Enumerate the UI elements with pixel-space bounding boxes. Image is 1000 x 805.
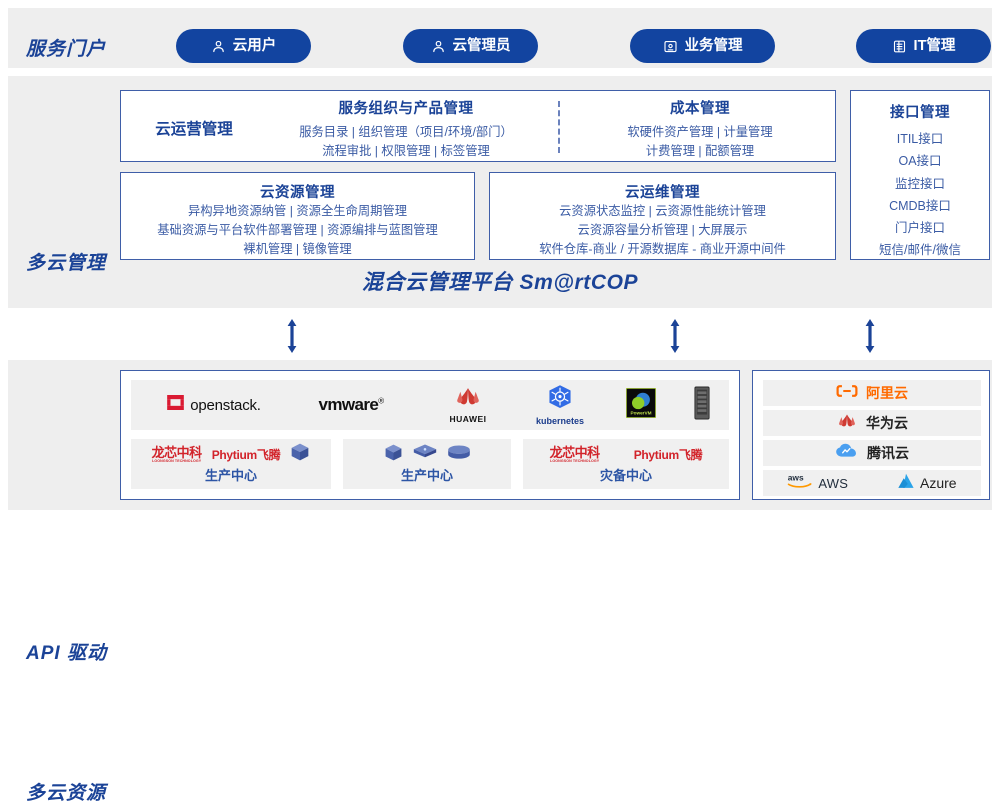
vendor-vmware: vmware®: [286, 380, 416, 430]
interface-item: 门户接口: [851, 217, 989, 239]
vendor-logo-strip: openstack. vmware®: [131, 380, 729, 430]
api-label: API 驱动: [26, 638, 107, 665]
cost-management-title: 成本管理: [571, 97, 829, 118]
portal-button-business-mgmt[interactable]: 业务管理: [630, 29, 775, 63]
interface-management-box: 接口管理 ITIL接口 OA接口 监控接口 CMDB接口 门户接口 短信/邮件/…: [850, 90, 990, 260]
service-portal-band: 服务门户 云用户 云管理员: [8, 8, 992, 68]
portal-button-it-mgmt[interactable]: IT管理: [856, 29, 991, 63]
bidirectional-arrow-icon: [668, 316, 682, 361]
cloud-resource-management-box: 云资源管理 异构异地资源纳管 | 资源全生命周期管理 基础资源与平台软件部署管理…: [120, 172, 475, 260]
portal-button-label: 业务管理: [685, 39, 743, 54]
cloud-operation-side-label: 云运营管理: [139, 117, 249, 139]
huawei-label: HUAWEI: [450, 414, 487, 424]
huaweicloud-logo-icon: [836, 413, 858, 434]
private-cloud-frame: openstack. vmware®: [120, 370, 740, 500]
interface-item: CMDB接口: [851, 195, 989, 217]
vendor-powervm: PowerVM: [601, 380, 681, 430]
cloud-operations-line: 云资源容量分析管理 | 大屏展示: [490, 221, 835, 240]
cost-management-block: 成本管理 软硬件资产管理 | 计量管理 计费管理 | 配额管理: [571, 97, 829, 161]
datacenter-tile: 龙芯中科 LOONGSON TECHNOLOGY Phytium飞腾 生产中心: [131, 439, 331, 489]
cost-management-line: 计费管理 | 配额管理: [571, 142, 829, 161]
phytium-logo-label: Phytium飞腾: [634, 446, 703, 463]
datacenter-logo-row: [343, 441, 511, 468]
openstack-label: openstack.: [190, 397, 261, 414]
datacenter-name: 灾备中心: [523, 469, 729, 483]
cloud-resource-line: 裸机管理 | 镜像管理: [121, 240, 474, 259]
public-cloud-label: 腾讯云: [867, 443, 909, 463]
cloud-resource-title: 云资源管理: [121, 181, 474, 202]
powervm-logo-icon: PowerVM: [626, 388, 656, 423]
kubernetes-label: kubernetes: [536, 416, 584, 426]
portal-button-cloud-user[interactable]: 云用户: [176, 29, 311, 63]
portal-button-label: 云用户: [233, 39, 277, 54]
disk-icon: [447, 444, 471, 466]
cube-icon: [290, 442, 310, 467]
cloud-operations-line: 软件仓库-商业 / 开源数据库 - 商业开源中间件: [490, 240, 835, 259]
public-cloud-aliyun: 阿里云: [763, 380, 981, 406]
cost-management-line: 软硬件资产管理 | 计量管理: [571, 123, 829, 142]
switch-icon: [413, 443, 437, 467]
platform-title: 混合云管理平台 Sm@rtCOP: [8, 266, 992, 296]
interface-management-title: 接口管理: [851, 101, 989, 122]
azure-label: Azure: [920, 475, 957, 491]
huawei-logo-icon: [453, 386, 483, 413]
portal-button-label: 云管理员: [453, 39, 511, 54]
api-band: API 驱动: [8, 314, 992, 358]
datacenter-name: 生产中心: [343, 469, 511, 483]
datacenter-logo-row: 龙芯中科 LOONGSON TECHNOLOGY Phytium飞腾: [131, 441, 331, 468]
aws-logo-icon: aws: [787, 472, 813, 494]
datacenter-tile: 龙芯中科 LOONGSON TECHNOLOGY Phytium飞腾 灾备中心: [523, 439, 729, 489]
public-cloud-label: 阿里云: [866, 383, 908, 403]
multicloud-resources-label: 多云资源: [26, 778, 106, 805]
multicloud-management-band: 多云管理 云运营管理 服务组织与产品管理 服务目录 | 组织管理（项目/环境/部…: [8, 76, 992, 308]
datacenter-name: 生产中心: [131, 469, 331, 483]
service-product-management-block: 服务组织与产品管理 服务目录 | 组织管理（项目/环境/部门） 流程审批 | 权…: [261, 97, 551, 161]
bidirectional-arrow-icon: [863, 316, 877, 361]
openstack-logo-icon: [167, 395, 184, 415]
azure-group: Azure: [897, 473, 957, 494]
phytium-logo-label: Phytium飞腾: [212, 446, 281, 463]
service-portal-label: 服务门户: [26, 34, 106, 61]
aws-label: AWS: [818, 476, 848, 491]
interface-item: 短信/邮件/微信: [851, 239, 989, 261]
public-cloud-huawei: 华为云: [763, 410, 981, 436]
cube-icon: [384, 443, 403, 467]
cloud-operations-line: 云资源状态监控 | 云资源性能统计管理: [490, 202, 835, 221]
tencentcloud-logo-icon: [835, 443, 859, 464]
user-icon: [211, 39, 226, 54]
interface-item: 监控接口: [851, 173, 989, 195]
portal-button-row: 云用户 云管理员 业务管理: [168, 29, 988, 63]
kubernetes-logo-icon: [547, 384, 573, 415]
server-list-icon: [892, 39, 907, 54]
vmware-label: vmware®: [318, 395, 383, 415]
public-cloud-label: 华为云: [866, 413, 908, 433]
loongson-logo-icon: 龙芯中科 LOONGSON TECHNOLOGY: [550, 446, 600, 464]
svg-text:PowerVM: PowerVM: [630, 410, 651, 415]
vendor-kubernetes: kubernetes: [515, 380, 605, 430]
aws-group: aws AWS: [787, 472, 848, 494]
vendor-huawei: HUAWEI: [423, 380, 513, 430]
datacenter-tile: 生产中心: [343, 439, 511, 489]
cloud-operations-management-box: 云运维管理 云资源状态监控 | 云资源性能统计管理 云资源容量分析管理 | 大屏…: [489, 172, 836, 260]
public-cloud-tencent: 腾讯云: [763, 440, 981, 466]
vendor-server-rack: [679, 380, 725, 430]
aliyun-logo-icon: [836, 384, 858, 403]
svg-text:aws: aws: [788, 473, 804, 483]
multicloud-resources-band: 多云资源 openstack.: [8, 360, 992, 510]
window-icon: [663, 39, 678, 54]
interface-item: OA接口: [851, 150, 989, 172]
dashed-divider: [558, 101, 560, 153]
service-product-line: 服务目录 | 组织管理（项目/环境/部门）: [261, 123, 551, 142]
cloud-operations-title: 云运维管理: [490, 181, 835, 202]
cloud-operation-frame: 云运营管理 服务组织与产品管理 服务目录 | 组织管理（项目/环境/部门） 流程…: [120, 90, 836, 162]
cloud-resource-line: 异构异地资源纳管 | 资源全生命周期管理: [121, 202, 474, 221]
azure-logo-icon: [897, 473, 915, 494]
user-icon: [431, 39, 446, 54]
portal-button-label: IT管理: [914, 39, 956, 54]
interface-item: ITIL接口: [851, 128, 989, 150]
datacenter-logo-row: 龙芯中科 LOONGSON TECHNOLOGY Phytium飞腾: [523, 441, 729, 468]
public-cloud-frame: 阿里云 华为云: [752, 370, 990, 500]
public-cloud-aws-azure: aws AWS Azure: [763, 470, 981, 496]
architecture-diagram: 服务门户 云用户 云管理员: [0, 0, 1000, 518]
vendor-openstack: openstack.: [149, 380, 279, 430]
portal-button-cloud-admin[interactable]: 云管理员: [403, 29, 538, 63]
cloud-resource-line: 基础资源与平台软件部署管理 | 资源编排与蓝图管理: [121, 221, 474, 240]
service-product-title: 服务组织与产品管理: [261, 97, 551, 118]
bidirectional-arrow-icon: [285, 316, 299, 361]
server-rack-icon: [694, 386, 710, 425]
service-product-line: 流程审批 | 权限管理 | 标签管理: [261, 142, 551, 161]
loongson-logo-icon: 龙芯中科 LOONGSON TECHNOLOGY: [152, 446, 202, 464]
